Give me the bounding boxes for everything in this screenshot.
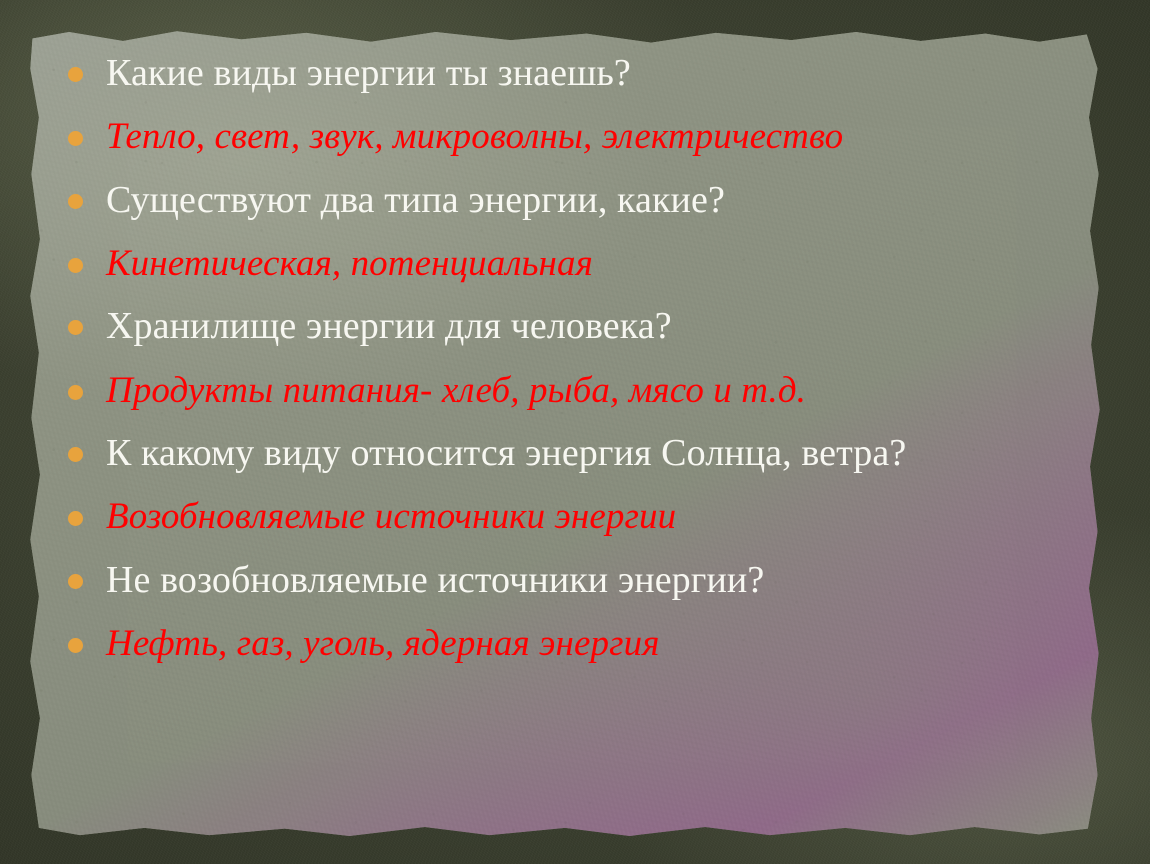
list-item: Тепло, свет, звук, микроволны, электриче… — [58, 110, 1090, 164]
orange-dot-bullet-icon — [68, 511, 83, 526]
list-item: Какие виды энергии ты знаешь? — [58, 46, 1090, 101]
orange-dot-bullet-icon — [68, 447, 83, 462]
bullet-text: Какие виды энергии ты знаешь? — [106, 46, 1090, 101]
orange-dot-bullet-icon — [68, 258, 83, 273]
list-item: Продукты питания- хлеб, рыба, мясо и т.д… — [58, 364, 1090, 418]
list-item: Хранилище энергии для человека? — [58, 299, 1090, 354]
bullet-text: Хранилище энергии для человека? — [106, 299, 1090, 354]
list-item: Нефть, газ, уголь, ядерная энергия — [58, 617, 1090, 671]
bullet-text: Продукты питания- хлеб, рыба, мясо и т.д… — [106, 364, 1090, 418]
list-item: Кинетическая, потенциальная — [58, 237, 1090, 291]
orange-dot-bullet-icon — [68, 320, 83, 335]
orange-dot-bullet-icon — [68, 638, 83, 653]
orange-dot-bullet-icon — [68, 574, 83, 589]
orange-dot-bullet-icon — [68, 67, 83, 82]
bullet-text: Нефть, газ, уголь, ядерная энергия — [106, 617, 1090, 671]
orange-dot-bullet-icon — [68, 194, 83, 209]
list-item: Не возобновляемые источники энергии? — [58, 553, 1090, 608]
bullet-text: Не возобновляемые источники энергии? — [106, 553, 1090, 608]
list-item: Существуют два типа энергии, какие? — [58, 173, 1090, 228]
presentation-slide: Какие виды энергии ты знаешь? Тепло, све… — [0, 0, 1150, 864]
orange-dot-bullet-icon — [68, 131, 83, 146]
bullet-text: К какому виду относится энергия Солнца, … — [106, 426, 1090, 481]
orange-dot-bullet-icon — [68, 385, 83, 400]
qa-bullet-list: Какие виды энергии ты знаешь? Тепло, све… — [58, 46, 1090, 671]
slide-content: Какие виды энергии ты знаешь? Тепло, све… — [0, 0, 1150, 864]
bullet-text: Кинетическая, потенциальная — [106, 237, 1090, 291]
list-item: К какому виду относится энергия Солнца, … — [58, 426, 1090, 481]
bullet-text: Тепло, свет, звук, микроволны, электриче… — [106, 110, 1090, 164]
list-item: Возобновляемые источники энергии — [58, 490, 1090, 544]
bullet-text: Существуют два типа энергии, какие? — [106, 173, 1090, 228]
bullet-text: Возобновляемые источники энергии — [106, 490, 1090, 544]
